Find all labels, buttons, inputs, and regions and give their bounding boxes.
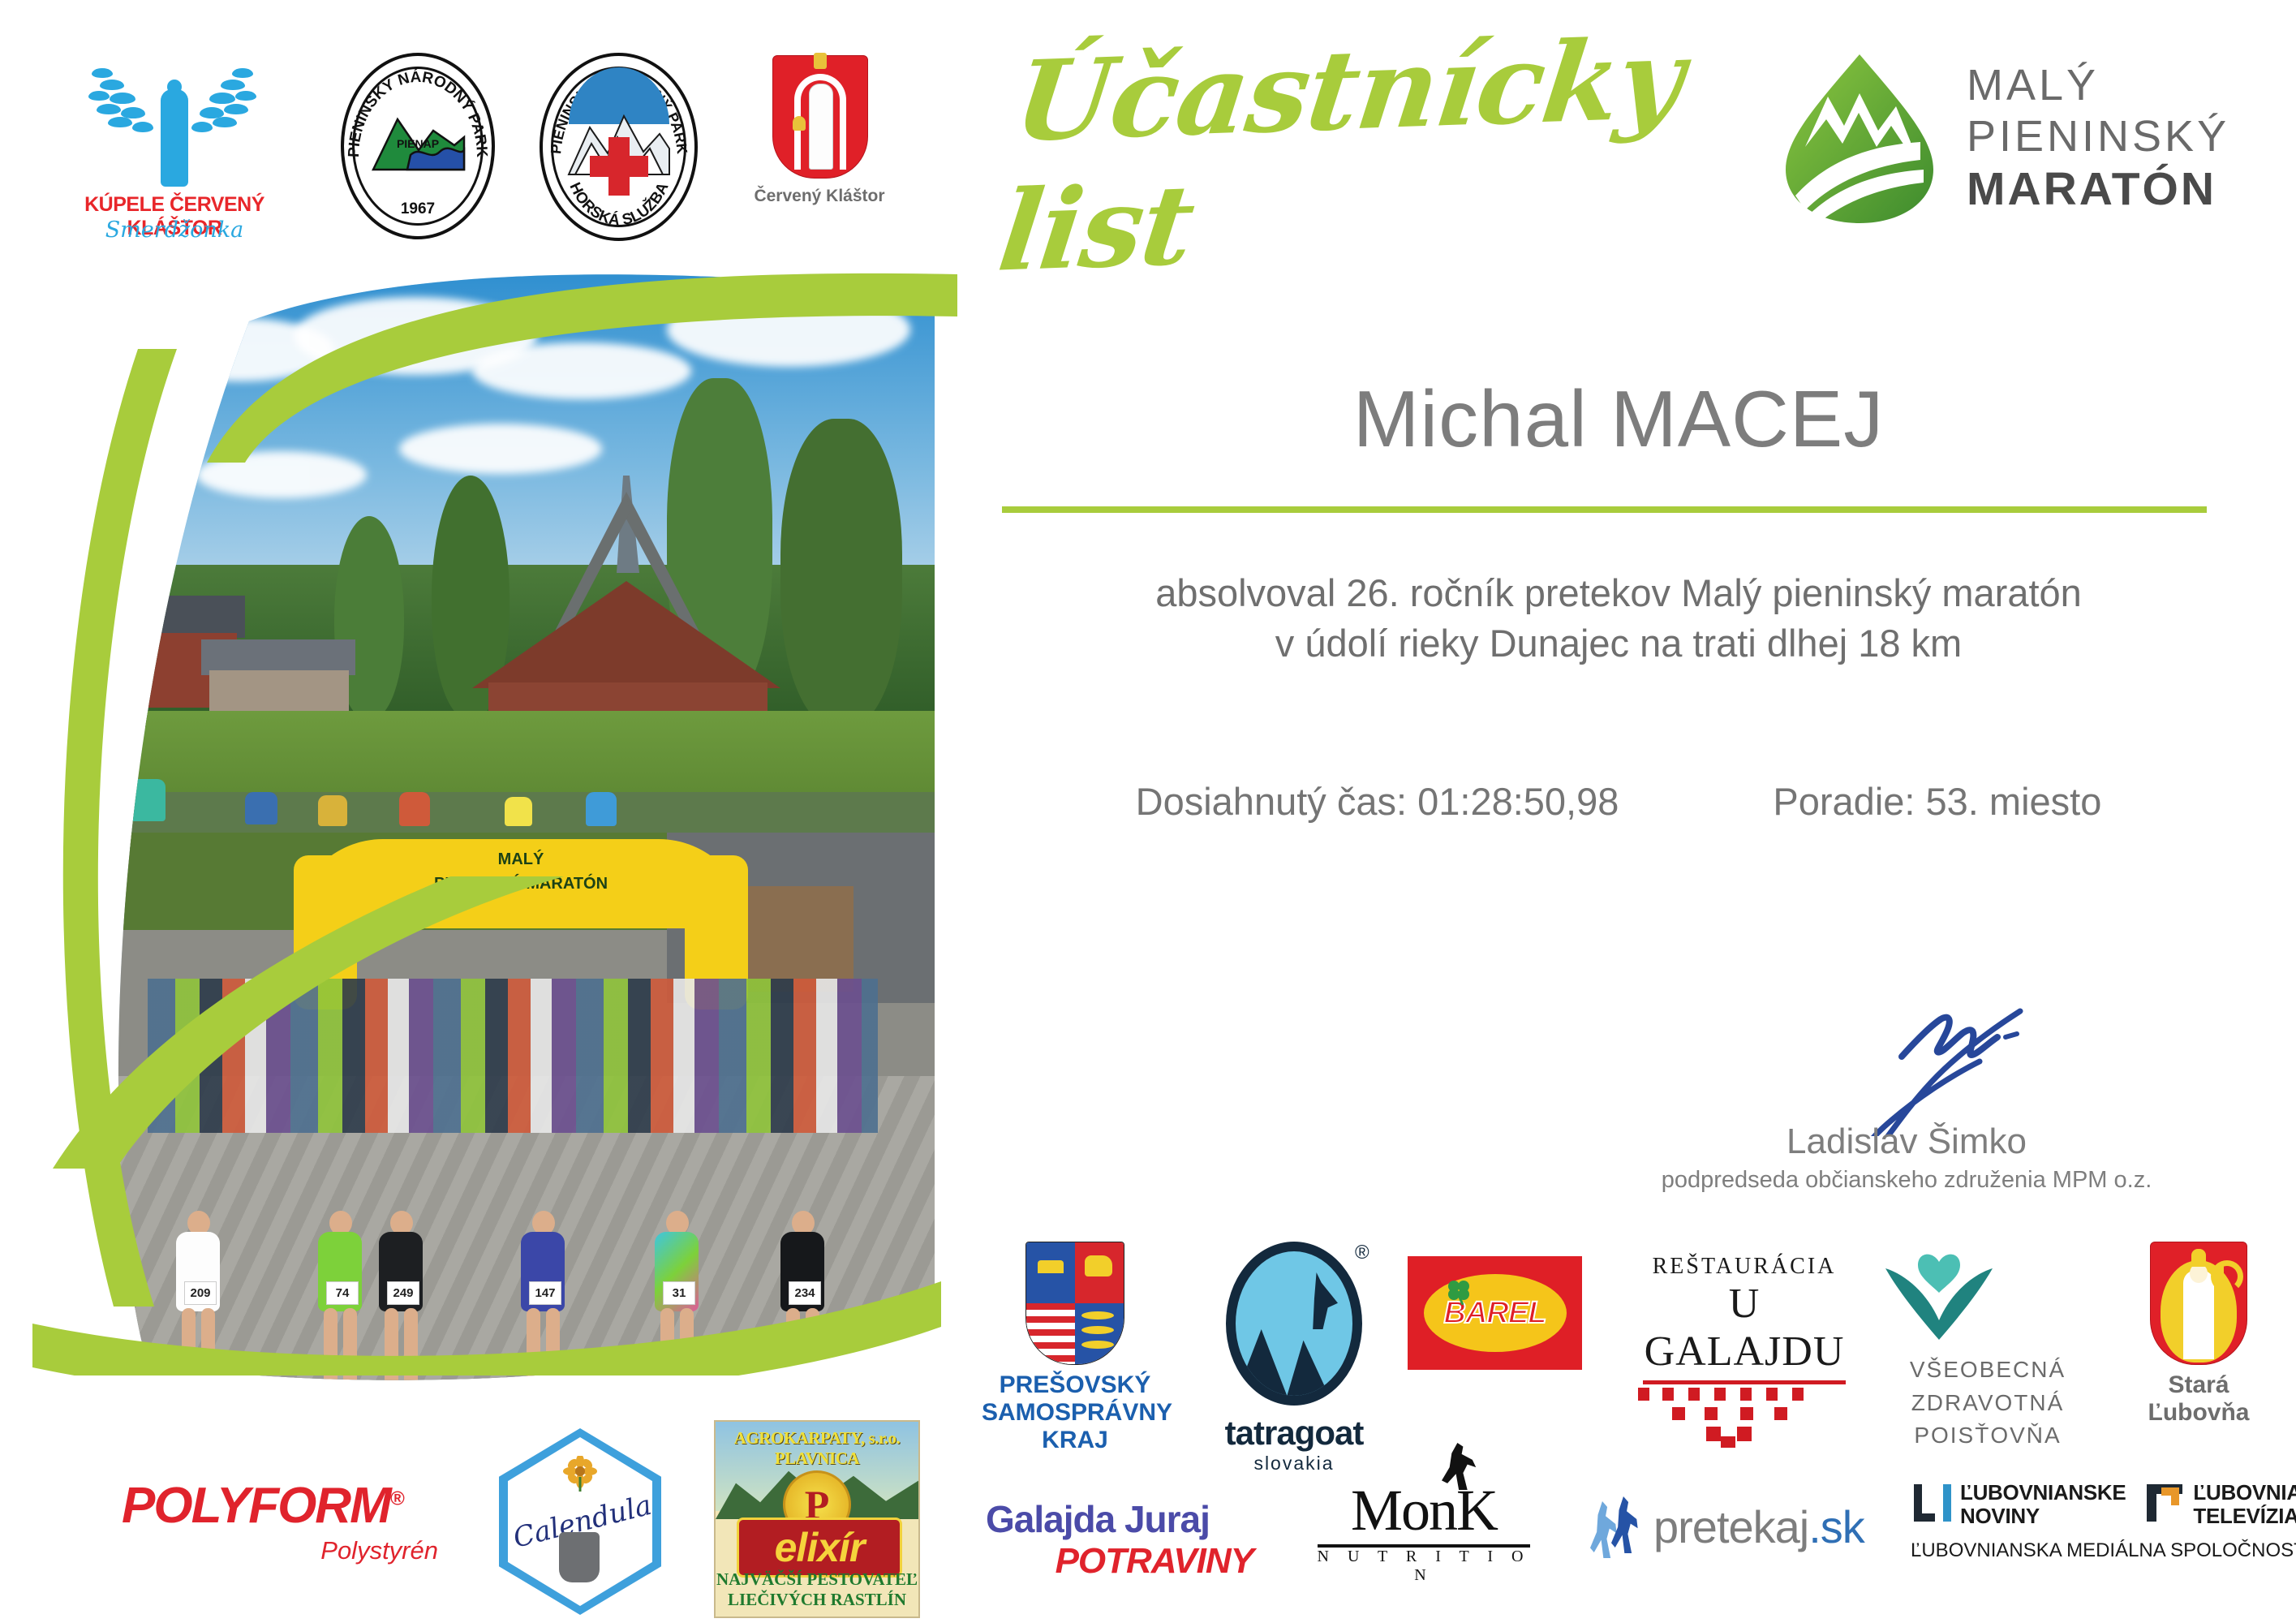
pretekaj-wordmark: pretekaj.sk	[1653, 1500, 1864, 1553]
finish-time-value: 01:28:50,98	[1417, 780, 1619, 823]
runner-bib: 234	[789, 1281, 821, 1305]
signer-name: Ladislav Šimko	[1655, 1121, 2158, 1162]
finish-time: Dosiahnutý čas: 01:28:50,98	[1136, 779, 1619, 824]
logo-lubovnianske-noviny: ĽUBOVNIANSKE NOVINY	[1911, 1481, 2126, 1528]
cloud-shape	[472, 342, 691, 399]
galajdu-wordmark: U GALAJDU	[1627, 1280, 1862, 1375]
pretekaj-tld: .sk	[1808, 1501, 1864, 1552]
agrokarpaty-caption: AGROKARPATY, s.r.o. PLAVNICA	[716, 1428, 918, 1469]
water-wing-right-icon	[188, 63, 265, 153]
mpm-line-1: MALÝ	[1967, 60, 2229, 111]
vzp-line-3: POISŤOVŇA	[1882, 1419, 2093, 1453]
sponsor-monk-nutrition: MonK N U T R I T I O N	[1302, 1477, 1546, 1585]
registered-mark: ®	[390, 1487, 403, 1509]
mpm-brand-logo: MALÝ PIENINSKÝ MARATÓN	[1781, 45, 2292, 231]
galajda-line-2: POTRAVINY	[986, 1541, 1253, 1582]
goat-icon	[1302, 1272, 1338, 1329]
psk-caption: PREŠOVSKÝ SAMOSPRÁVNY KRAJ	[982, 1371, 1168, 1455]
achievement-text: absolvoval 26. ročník pretekov Malý pien…	[998, 568, 2239, 669]
achievement-line-1: absolvoval 26. ročník pretekov Malý pien…	[998, 568, 2239, 618]
sponsor-presovsky-samospravny-kraj: PREŠOVSKÝ SAMOSPRÁVNY KRAJ	[982, 1242, 1168, 1455]
mpm-wordmark: MALÝ PIENINSKÝ MARATÓN	[1967, 60, 2229, 215]
pienap-inner-label: PIENAP	[341, 137, 495, 150]
ln-line-2: NOVINY	[1960, 1505, 2126, 1528]
clover-icon	[1445, 1277, 1473, 1305]
shield-quarter	[1026, 1303, 1075, 1364]
mpm-line-2: PIENINSKÝ	[1967, 111, 2229, 162]
arch-line-1: MALÝ	[294, 850, 748, 869]
lt-line-2: TELEVÍZIA	[2193, 1505, 2296, 1528]
bishop-robe	[2183, 1270, 2214, 1359]
runner-leg	[404, 1308, 418, 1389]
building-shape	[209, 670, 349, 714]
horska-sluzba-ring-text: PIENINSKÝ NÁRODNÝ PARK HORSKÁ SLUŽBA	[540, 53, 698, 241]
runner-74: 74	[318, 1154, 362, 1389]
runner-bib: 209	[184, 1281, 217, 1305]
monk-subtitle: N U T R I T I O N	[1302, 1548, 1546, 1585]
person-shape	[318, 795, 347, 826]
monk-figure-icon	[809, 84, 833, 170]
barel-oval: BAREL	[1424, 1274, 1567, 1352]
runner-leg	[385, 1308, 398, 1389]
polyform-wordmark: POLYFORM®	[122, 1477, 402, 1535]
mortar-and-pestle-icon	[559, 1532, 600, 1582]
elixir-footer-line-2: LIEČIVÝCH RASTLÍN	[716, 1590, 918, 1610]
runner-bib: 249	[387, 1281, 419, 1305]
water-wing-left-icon	[80, 63, 157, 153]
lt-text: ĽUBOVNIANSKA TELEVÍZIA	[2193, 1481, 2296, 1528]
sponsor-galajda-juraj-potraviny: Galajda Juraj POTRAVINY	[986, 1497, 1253, 1582]
handwritten-signature-icon	[1817, 998, 2061, 1136]
logo-obec-cerveny-klastor: Červený Kláštor	[746, 49, 892, 243]
crosier-crook	[2211, 1260, 2243, 1293]
logo-pieninsky-narodny-park: PIENINSKÝ NÁRODNÝ PARK PIENAP 1967	[341, 53, 495, 239]
runners-icon	[1590, 1493, 1649, 1560]
polyform-word: POLYFORM	[122, 1478, 390, 1534]
galajdu-line-1: REŠTAURÁCIA	[1627, 1254, 1862, 1280]
vzp-line-2: ZDRAVOTNÁ	[1882, 1387, 2093, 1420]
media-company-caption: ĽUBOVNIANSKA MEDIÁLNA SPOLOČNOSŤ, s.r.o.	[1911, 1539, 2292, 1562]
crest-top-icon	[814, 53, 827, 69]
mitre-icon	[2191, 1249, 2206, 1267]
mpm-line-3: MARATÓN	[1967, 162, 2229, 216]
coat-of-arms-shield	[772, 55, 868, 179]
monk-wordmark: MonK	[1302, 1477, 1546, 1544]
mountain-icon	[1236, 1303, 1352, 1396]
tatragoat-wordmark: tatragoat	[1201, 1414, 1387, 1453]
sponsor-pretekaj-sk: pretekaj.sk	[1590, 1493, 1858, 1560]
vzp-line-1: VŠEOBECNÁ	[1882, 1354, 2093, 1387]
lt-line-1: ĽUBOVNIANSKA	[2193, 1481, 2296, 1505]
sponsor-lubovnianska-medialna-spolocnost: ĽUBOVNIANSKE NOVINY ĽUBOVNIANSKA TELEVÍZ…	[1911, 1481, 2292, 1562]
sponsor-polyform: POLYFORM® Polystyrén	[122, 1477, 438, 1565]
folk-ornament-icon	[1627, 1384, 1829, 1448]
wooden-pavilion	[456, 476, 797, 719]
ln-text: ĽUBOVNIANSKE NOVINY	[1960, 1481, 2126, 1528]
sponsor-calendula: Calendula	[499, 1428, 661, 1615]
psk-coat-of-arms	[1025, 1242, 1124, 1365]
cerveny-klastor-caption: Červený Kláštor	[746, 187, 892, 206]
participant-name: Michal MACEJ	[998, 373, 2239, 465]
shield-quarter	[1026, 1242, 1075, 1303]
signature-block: Ladislav Šimko podpredseda občianskeho z…	[1655, 998, 2158, 1201]
placement: Poradie: 53. miesto	[1773, 779, 2101, 824]
ln-line-1: ĽUBOVNIANSKE	[1960, 1481, 2126, 1505]
tent-shape	[107, 779, 166, 821]
placement-label: Poradie:	[1773, 780, 1915, 823]
bell-icon	[793, 116, 806, 131]
sponsor-vseobecna-zdravotna-poistovna: VŠEOBECNÁ ZDRAVOTNÁ POISŤOVŇA	[1882, 1246, 2093, 1453]
cloud-shape	[399, 424, 602, 474]
runner-leg	[546, 1308, 560, 1389]
kupele-subtitle: Smerdžonka	[73, 217, 276, 243]
page-title: Účastnícky list	[1000, 68, 1752, 239]
person-shape	[399, 792, 430, 826]
sponsor-agrokarpaty-elixir: AGROKARPATY, s.r.o. PLAVNICA P elixír NA…	[714, 1420, 920, 1618]
ln-monogram-icon	[1911, 1481, 1953, 1523]
registered-mark: ®	[1355, 1242, 1369, 1264]
shield-quarter	[1075, 1303, 1124, 1364]
person-shape	[586, 792, 617, 826]
media-logos-row: ĽUBOVNIANSKE NOVINY ĽUBOVNIANSKA TELEVÍZ…	[1911, 1481, 2292, 1528]
event-photo-collage: MALÝ PIENINSKÝ MARATÓN 209 74	[50, 273, 935, 1409]
header-logo-strip: KÚPELE ČERVENÝ KLÁŠTOR Smerdžonka PIENIN…	[0, 32, 957, 243]
runner-leg	[527, 1308, 540, 1389]
elixir-footer-line-1: NAJVÄČŠÍ PESTOVATEĽ	[716, 1569, 918, 1590]
lt-screen-icon	[2143, 1481, 2186, 1523]
leaf-mountain-icon	[1781, 51, 1939, 226]
placement-value: 53. miesto	[1926, 780, 2102, 823]
person-shape	[245, 792, 277, 824]
green-divider	[1002, 506, 2207, 513]
elixir-footer-caption: NAJVÄČŠÍ PESTOVATEĽ LIEČIVÝCH RASTLÍN	[716, 1569, 918, 1610]
runner-249: 249	[379, 1146, 424, 1389]
tatragoat-emblem	[1226, 1242, 1362, 1406]
galajda-line-1: Galajda Juraj	[986, 1497, 1253, 1541]
tree-shape	[780, 419, 902, 727]
sponsor-tatragoat: ® tatragoat slovakia	[1201, 1242, 1387, 1474]
runner-silhouette	[1590, 1501, 1618, 1558]
pienap-year: 1967	[341, 200, 495, 218]
lubovna-coat-of-arms	[2150, 1242, 2247, 1365]
runner-bib: 147	[529, 1281, 561, 1305]
logo-lubovnianska-televizia: ĽUBOVNIANSKA TELEVÍZIA	[2143, 1481, 2296, 1528]
polyform-subtitle: Polystyrén	[122, 1536, 438, 1565]
logo-kupele-cerveny-klastor: KÚPELE ČERVENÝ KLÁŠTOR Smerdžonka	[73, 49, 276, 243]
marigold-flower-icon	[562, 1456, 598, 1492]
vzp-heart-chevron-icon	[1882, 1246, 1996, 1341]
runner-bib: 31	[663, 1281, 695, 1305]
finish-time-label: Dosiahnutý čas:	[1136, 780, 1407, 823]
runner-leg	[324, 1308, 338, 1389]
logo-horska-sluzba: PIENINSKÝ NÁRODNÝ PARK HORSKÁ SLUŽBA	[540, 53, 698, 241]
elixir-wordmark: elixír	[775, 1524, 865, 1571]
photo-clip-area: MALÝ PIENINSKÝ MARATÓN 209 74	[50, 273, 935, 1409]
lubovna-caption: Stará Ľubovňa	[2118, 1371, 2280, 1427]
runner-leg	[343, 1308, 357, 1389]
sponsor-restauracia-u-galajdu: REŠTAURÁCIA U GALAJDU	[1627, 1254, 1862, 1452]
person-shape	[505, 797, 532, 826]
vzp-caption: VŠEOBECNÁ ZDRAVOTNÁ POISŤOVŇA	[1882, 1354, 2093, 1453]
angel-body-icon	[161, 89, 188, 187]
signer-role: podpredseda občianskeho združenia MPM o.…	[1655, 1167, 2158, 1194]
sponsor-stara-lubovna: Stará Ľubovňa	[2118, 1242, 2280, 1427]
runner-bib: 74	[326, 1281, 359, 1305]
shield-quarter	[1075, 1242, 1124, 1303]
tatragoat-subtitle: slovakia	[1201, 1453, 1387, 1474]
achievement-line-2: v údolí rieky Dunajec na trati dlhej 18 …	[998, 618, 2239, 669]
pretekaj-word: pretekaj	[1653, 1501, 1808, 1552]
sponsor-barel: BAREL	[1408, 1256, 1582, 1370]
results-row: Dosiahnutý čas: 01:28:50,98 Poradie: 53.…	[998, 779, 2239, 824]
